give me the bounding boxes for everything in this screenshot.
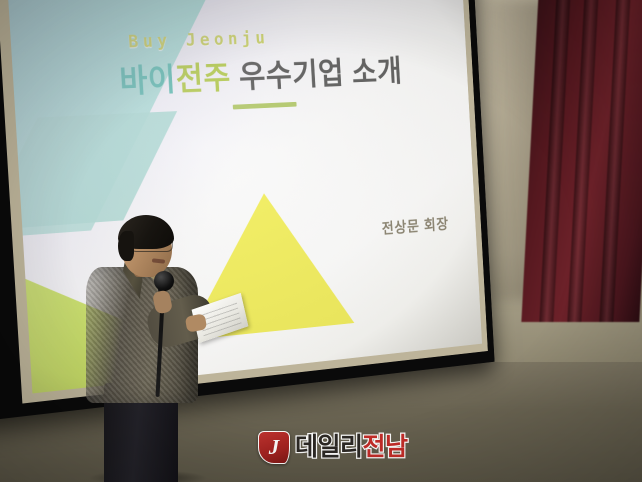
slide-eyebrow-text: Buy Jeonju	[128, 28, 270, 52]
watermark-text: 데일리전남	[295, 435, 408, 460]
microphone-icon	[154, 271, 174, 291]
slide-presenter-name: 전상문 회장	[381, 211, 449, 238]
watermark-text-red: 전남	[363, 433, 408, 461]
speaker-figure	[78, 215, 228, 482]
slide-title: 바이전주 우수기업 소개	[118, 46, 403, 102]
slide-title-underline	[233, 102, 297, 110]
stage-curtain	[521, 0, 642, 322]
slide-title-part-3: 우수기업 소개	[230, 54, 403, 95]
slide-title-part-1: 바이	[119, 61, 177, 99]
speaker-hair-side	[118, 231, 134, 261]
daily-jeonnam-emblem-icon: J	[258, 431, 290, 464]
watermark-logo: J 데일리전남	[258, 431, 408, 464]
slide-shape-teal-secondary	[8, 111, 177, 231]
slide-title-part-2: 전주	[175, 60, 232, 97]
projection-screen: Buy Jeonju 바이전주 우수기업 소개 전상문 회장	[0, 0, 486, 405]
watermark-text-dark: 데일리	[295, 433, 363, 461]
photo-scene: Buy Jeonju 바이전주 우수기업 소개 전상문 회장	[0, 0, 642, 482]
emblem-letter: J	[259, 433, 289, 461]
